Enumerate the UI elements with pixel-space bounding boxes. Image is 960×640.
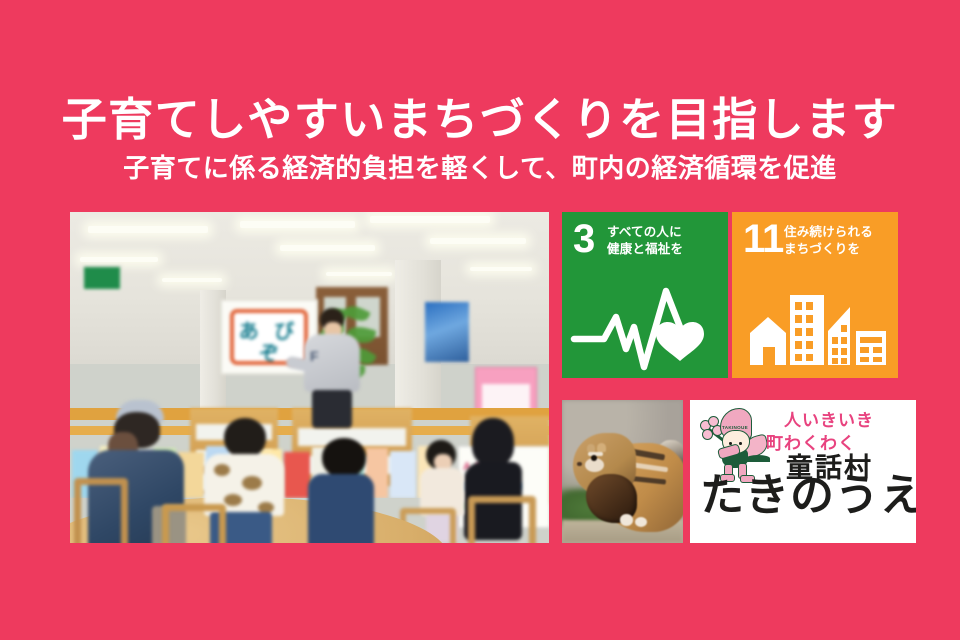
chipmunk-ear <box>597 443 606 452</box>
ceiling-lamp-icon <box>370 216 490 223</box>
heartbeat-heart-icon <box>562 277 728 372</box>
chair <box>74 478 128 543</box>
chipmunk-photo <box>562 400 683 543</box>
ceiling-lamp-icon <box>430 238 526 244</box>
ceiling-lamp-icon <box>280 245 375 251</box>
chipmunk-ear <box>587 444 595 452</box>
page-subtitle: 子育てに係る経済的負担を軽くして、町内の経済循環を促進 <box>0 155 960 181</box>
page-title: 子育てしやすいまちづくりを目指します <box>0 97 960 142</box>
chipmunk-eye <box>591 455 597 461</box>
sdg-text-line2: まちづくりを <box>784 241 893 258</box>
adult-standing: F <box>302 308 362 428</box>
sdg-badge-11: 11 住み続けられる まちづくりを <box>732 212 898 378</box>
sdg-text-line1: すべての人に <box>607 224 723 241</box>
chair <box>162 504 226 543</box>
blue-poster <box>425 302 469 362</box>
logo-tagline-line1: 人いきいき <box>784 406 874 431</box>
mascot-fairy-icon: TAKINOUE <box>700 406 774 480</box>
ceiling-lamp-icon <box>80 257 158 262</box>
sdg-badge-3: 3 すべての人に 健康と福祉を <box>562 212 728 378</box>
exit-sign <box>82 265 122 291</box>
sdg-text-line2: 健康と福祉を <box>607 241 723 258</box>
poster-root: 子育てしやすいまちづくりを目指します 子育てに係る経済的負担を軽くして、町内の経… <box>0 0 960 640</box>
sdg-badge-text: すべての人に 健康と福祉を <box>607 224 723 259</box>
library-children-photo: あ び ぞ <box>70 212 549 543</box>
ceiling-lamp-icon <box>326 272 392 276</box>
sdg-text-line1: 住み続けられる <box>784 224 893 241</box>
ceiling-lamp-icon <box>88 226 208 233</box>
ceiling-lamp-icon <box>470 267 532 271</box>
chair <box>468 496 536 543</box>
child-back-view <box>306 438 376 543</box>
city-buildings-icon <box>732 277 898 372</box>
chipmunk-nose <box>577 462 581 466</box>
chipmunk-paw <box>635 517 647 527</box>
sdg-badge-number: 11 <box>743 219 783 259</box>
petal <box>702 429 713 440</box>
ceiling-lamp-icon <box>240 221 355 228</box>
sdg-badge-text: 住み続けられる まちづくりを <box>784 224 893 259</box>
logo-town-name: たきのうえ <box>700 474 916 518</box>
sdg-badge-number: 3 <box>573 219 595 259</box>
town-logo: TAKINOUE 人いきいき 町わくわく 童話村 たきのうえ <box>690 400 916 543</box>
ceiling-lamp-icon <box>162 278 222 282</box>
